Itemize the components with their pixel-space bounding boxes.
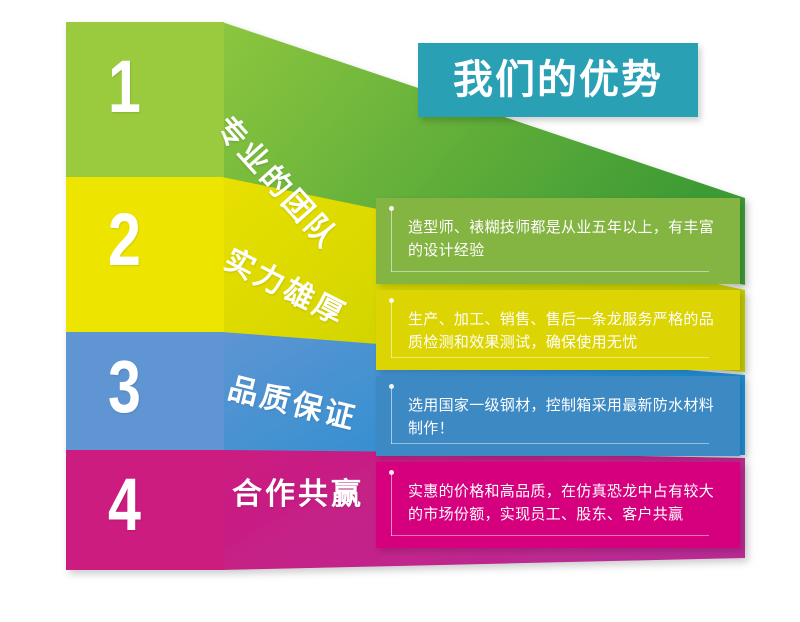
content-box-3: 选用国家一级钢材，控制箱采用最新防水材料制作！ — [376, 376, 740, 456]
step-number-2: 2 — [108, 203, 141, 277]
ribbon-block-1 — [66, 22, 224, 177]
step-label-1: 专业的团队 — [210, 112, 343, 255]
content-box-2: 生产、加工、销售、售后一条龙服务严格的品质检测和效果测试，确保使用无忧 — [376, 290, 740, 370]
accent-line-icon-4 — [391, 473, 392, 536]
accent-underline-2 — [391, 357, 709, 358]
accent-underline-1 — [391, 271, 709, 272]
step-number-3: 3 — [108, 350, 141, 424]
accent-line-icon-1 — [391, 209, 392, 272]
content-text-4: 实惠的价格和高品质，在仿真恐龙中占有较大的市场份额，实现员工、股东、客户共赢 — [408, 480, 722, 527]
step-label-3: 品质保证 — [225, 374, 360, 435]
content-text-3: 选用国家一级钢材，控制箱采用最新防水材料制作！ — [408, 394, 722, 441]
content-text-1: 造型师、裱糊技师都是从业五年以上，有丰富的设计经验 — [408, 216, 722, 263]
ribbon-block-4 — [66, 448, 224, 570]
page-title: 我们的优势 — [453, 60, 663, 100]
ribbon-block-3 — [66, 330, 224, 450]
accent-underline-4 — [391, 535, 709, 536]
step-label-2: 实力雄厚 — [219, 245, 350, 332]
step-number-4: 4 — [108, 468, 141, 542]
page-title-banner: 我们的优势 — [418, 43, 698, 117]
content-box-1: 造型师、裱糊技师都是从业五年以上，有丰富的设计经验 — [376, 198, 740, 284]
step-label-4: 合作共赢 — [232, 480, 364, 510]
ribbon-block-2 — [66, 175, 224, 332]
accent-line-icon-2 — [391, 301, 392, 358]
content-text-2: 生产、加工、销售、售后一条龙服务严格的品质检测和效果测试，确保使用无忧 — [408, 308, 722, 355]
accent-line-icon-3 — [391, 387, 392, 444]
step-number-1: 1 — [108, 50, 141, 124]
content-box-4: 实惠的价格和高品质，在仿真恐龙中占有较大的市场份额，实现员工、股东、客户共赢 — [376, 462, 740, 548]
infographic-canvas: 1 2 3 4 专业的团队 实力雄厚 品质保证 合作共赢 我们的优势 造型师、裱… — [0, 0, 800, 622]
accent-underline-3 — [391, 443, 709, 444]
